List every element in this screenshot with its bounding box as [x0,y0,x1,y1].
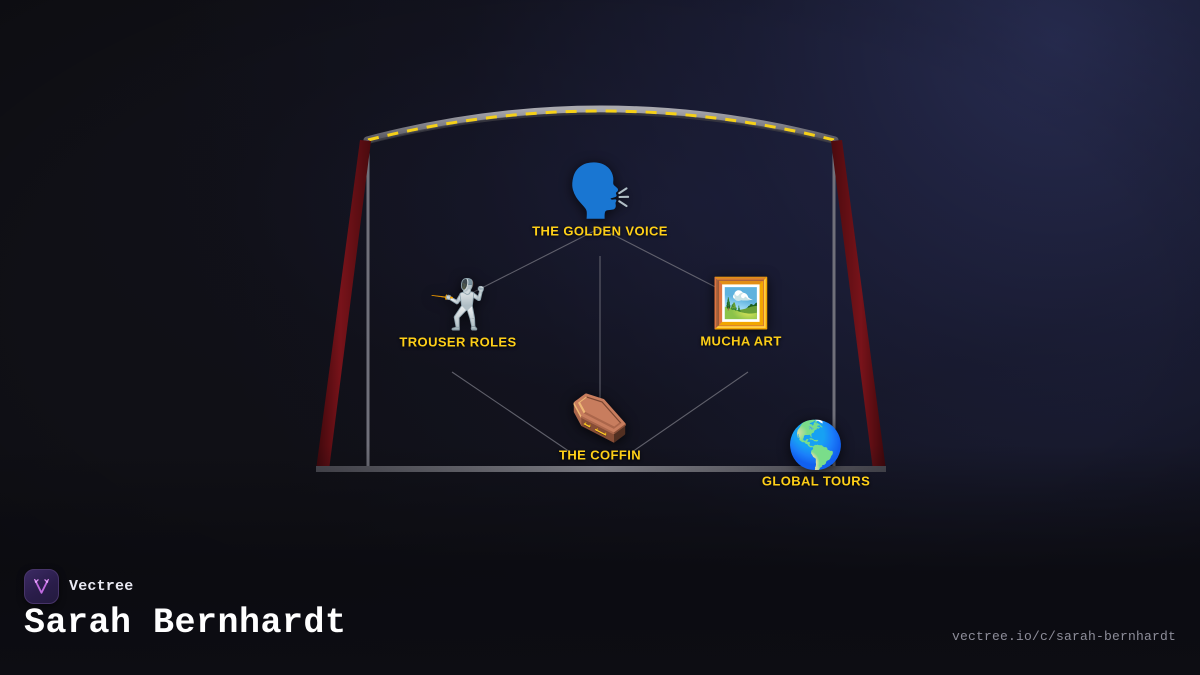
graph-node-label-golden-voice: THE GOLDEN VOICE [532,224,668,239]
vectree-logo-icon [24,569,59,604]
brand-name: Vectree [69,578,133,595]
graph-node-trouser-roles[interactable]: 🤺TROUSER ROLES [399,281,516,350]
site-url: vectree.io/c/sarah-bernhardt [952,629,1176,644]
graph-node-golden-voice[interactable]: 🗣️THE GOLDEN VOICE [532,166,668,239]
footer-bar: Vectree Sarah Bernhardt vectree.io/c/sar… [0,555,1200,675]
vectree-logo-glyph [32,577,51,596]
coffin-icon: ⚰️ [570,394,630,442]
speaking-head-icon: 🗣️ [568,166,633,218]
graph-node-label-global-tours: GLOBAL TOURS [762,474,870,489]
fencer-icon: 🤺 [428,281,488,329]
framed-picture-icon: 🖼️ [711,280,771,328]
screenshot-root: 🗣️THE GOLDEN VOICE🤺TROUSER ROLES🖼️MUCHA … [0,0,1200,675]
graph-node-mucha-art[interactable]: 🖼️MUCHA ART [700,280,781,349]
page-title: Sarah Bernhardt [24,603,347,643]
brand-row[interactable]: Vectree [24,569,133,604]
globe-americas-icon: 🌎 [787,422,844,468]
graph-node-label-mucha-art: MUCHA ART [700,334,781,349]
graph-node-global-tours[interactable]: 🌎GLOBAL TOURS [762,422,870,489]
graph-node-label-the-coffin: THE COFFIN [559,448,641,463]
graph-node-label-trouser-roles: TROUSER ROLES [399,335,516,350]
graph-node-the-coffin[interactable]: ⚰️THE COFFIN [559,394,641,463]
